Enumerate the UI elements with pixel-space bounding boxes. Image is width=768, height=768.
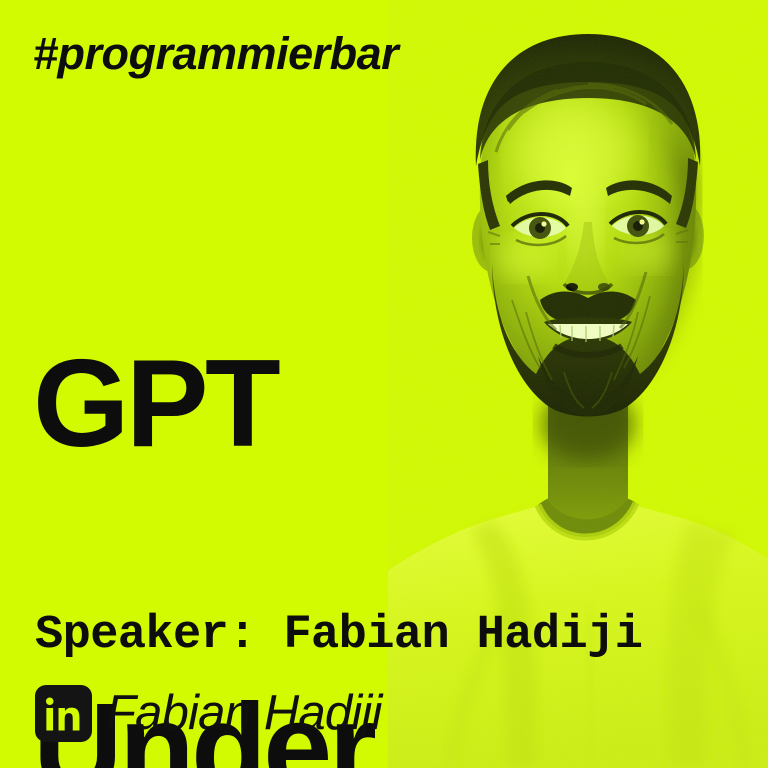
podcast-episode-cover: #programmierbar GPT Under the Hood Speak… bbox=[0, 0, 768, 768]
cover-text-layer: #programmierbar GPT Under the Hood Speak… bbox=[0, 0, 768, 768]
linkedin-icon[interactable] bbox=[35, 685, 92, 742]
speaker-line: Speaker: Fabian Hadiji bbox=[35, 612, 642, 659]
linkedin-row[interactable]: Fabian Hadiji bbox=[35, 685, 382, 742]
title-line-1: GPT bbox=[33, 347, 541, 462]
brand-hashtag: #programmierbar bbox=[33, 31, 398, 76]
linkedin-handle[interactable]: Fabian Hadiji bbox=[106, 689, 382, 738]
episode-title: GPT Under the Hood bbox=[33, 118, 541, 768]
